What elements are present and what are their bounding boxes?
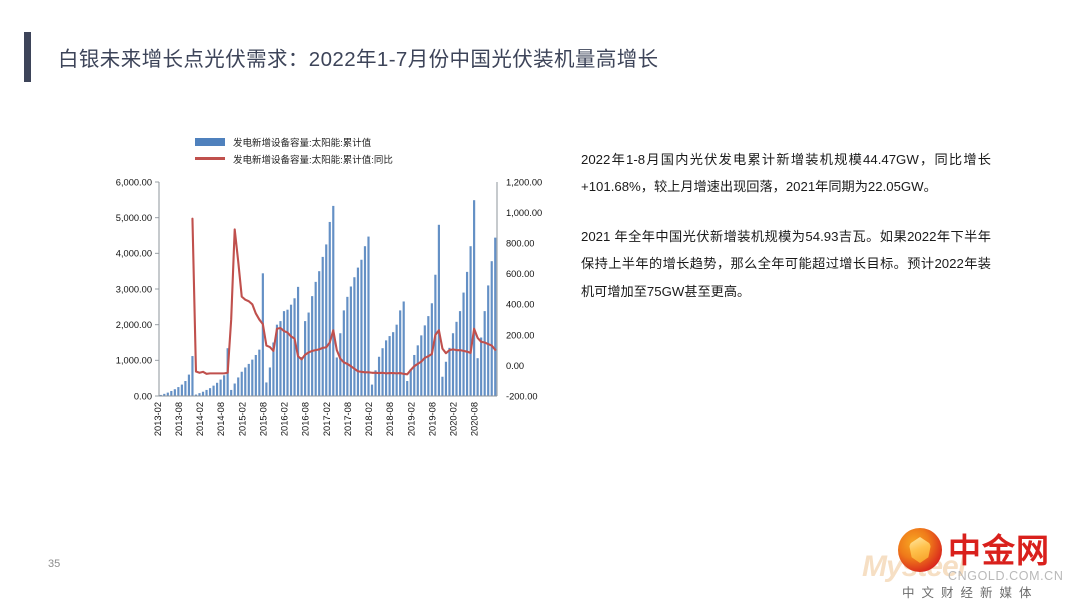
svg-text:400.00: 400.00 bbox=[506, 300, 534, 310]
body-text: 2022年1-8月国内光伏发电累计新增装机规模44.47GW，同比增长+101.… bbox=[581, 146, 991, 327]
svg-text:2020-02: 2020-02 bbox=[449, 402, 459, 436]
svg-text:2014-02: 2014-02 bbox=[195, 402, 205, 436]
svg-text:2018-02: 2018-02 bbox=[364, 402, 374, 436]
svg-text:6,000.00: 6,000.00 bbox=[116, 177, 152, 187]
chart-legend: 发电新增设备容量:太阳能:累计值 发电新增设备容量:太阳能:累计值:同比 bbox=[195, 134, 535, 168]
logo-wordmark: 中金网 bbox=[948, 534, 1050, 567]
svg-text:2018-08: 2018-08 bbox=[385, 402, 395, 436]
svg-text:2019-02: 2019-02 bbox=[406, 402, 416, 436]
svg-text:2015-08: 2015-08 bbox=[258, 402, 268, 436]
bar-series bbox=[160, 200, 497, 396]
svg-text:1,000.00: 1,000.00 bbox=[506, 208, 542, 218]
page-title: 白银未来增长点光伏需求：2022年1-7月份中国光伏装机量高增长 bbox=[58, 42, 659, 72]
svg-text:3,000.00: 3,000.00 bbox=[116, 284, 152, 294]
chart-block: 发电新增设备容量:太阳能:累计值 发电新增设备容量:太阳能:累计值:同比 0.0… bbox=[85, 132, 565, 462]
legend-line-swatch-icon bbox=[195, 157, 225, 160]
axis-tick-marks bbox=[155, 182, 159, 396]
svg-text:-200.00: -200.00 bbox=[506, 391, 538, 401]
logo-tagline: 中文财经新媒体 bbox=[902, 582, 1039, 601]
svg-text:2,000.00: 2,000.00 bbox=[116, 320, 152, 330]
legend-item-bars: 发电新增设备容量:太阳能:累计值 bbox=[195, 134, 535, 149]
title-row: 白银未来增长点光伏需求：2022年1-7月份中国光伏装机量高增长 bbox=[24, 32, 659, 82]
svg-text:2015-02: 2015-02 bbox=[237, 402, 247, 436]
logo-domain: CNGOLD.COM.CN bbox=[948, 569, 1063, 583]
svg-text:2016-02: 2016-02 bbox=[280, 402, 290, 436]
paragraph-2: 2021 年全年中国光伏新增装机规模为54.93吉瓦。如果2022年下半年保持上… bbox=[581, 223, 991, 305]
svg-text:2013-08: 2013-08 bbox=[174, 402, 184, 436]
title-accent-bar bbox=[24, 32, 31, 82]
svg-text:2016-08: 2016-08 bbox=[301, 402, 311, 436]
svg-text:0.00: 0.00 bbox=[506, 361, 524, 371]
legend-bar-swatch-icon bbox=[195, 138, 225, 146]
svg-text:2020-08: 2020-08 bbox=[470, 402, 480, 436]
svg-text:2019-08: 2019-08 bbox=[427, 402, 437, 436]
logo-flame-icon bbox=[898, 528, 942, 572]
legend-item-line: 发电新增设备容量:太阳能:累计值:同比 bbox=[195, 151, 535, 166]
x-axis-labels: 2013-022013-082014-022014-082015-022015-… bbox=[153, 402, 480, 436]
page-number: 35 bbox=[48, 558, 60, 570]
svg-text:1,000.00: 1,000.00 bbox=[116, 356, 152, 366]
svg-text:4,000.00: 4,000.00 bbox=[116, 249, 152, 259]
svg-text:1,200.00: 1,200.00 bbox=[506, 177, 542, 187]
svg-text:0.00: 0.00 bbox=[134, 391, 152, 401]
svg-text:2014-08: 2014-08 bbox=[216, 402, 226, 436]
svg-text:600.00: 600.00 bbox=[506, 269, 534, 279]
slide-canvas: 白银未来增长点光伏需求：2022年1-7月份中国光伏装机量高增长 发电新增设备容… bbox=[0, 0, 1080, 608]
svg-text:5,000.00: 5,000.00 bbox=[116, 213, 152, 223]
legend-label-line: 发电新增设备容量:太阳能:累计值:同比 bbox=[233, 152, 393, 166]
svg-text:2017-08: 2017-08 bbox=[343, 402, 353, 436]
paragraph-1: 2022年1-8月国内光伏发电累计新增装机规模44.47GW，同比增长+101.… bbox=[581, 146, 991, 201]
brand-logo: Mysteel 中金网 CNGOLD.COM.CN 中文财经新媒体 bbox=[872, 524, 1062, 600]
chart-svg: 0.001,000.002,000.003,000.004,000.005,00… bbox=[85, 174, 565, 464]
logo-main: 中金网 bbox=[898, 528, 1050, 572]
y-axis-left-labels: 0.001,000.002,000.003,000.004,000.005,00… bbox=[116, 177, 152, 401]
y-axis-right-labels: -200.000.00200.00400.00600.00800.001,000… bbox=[506, 177, 542, 401]
svg-text:800.00: 800.00 bbox=[506, 239, 534, 249]
svg-text:2013-02: 2013-02 bbox=[153, 402, 163, 436]
legend-label-bars: 发电新增设备容量:太阳能:累计值 bbox=[233, 135, 371, 149]
chart-plot-area: 0.001,000.002,000.003,000.004,000.005,00… bbox=[85, 174, 565, 394]
svg-text:2017-02: 2017-02 bbox=[322, 402, 332, 436]
svg-text:200.00: 200.00 bbox=[506, 330, 534, 340]
